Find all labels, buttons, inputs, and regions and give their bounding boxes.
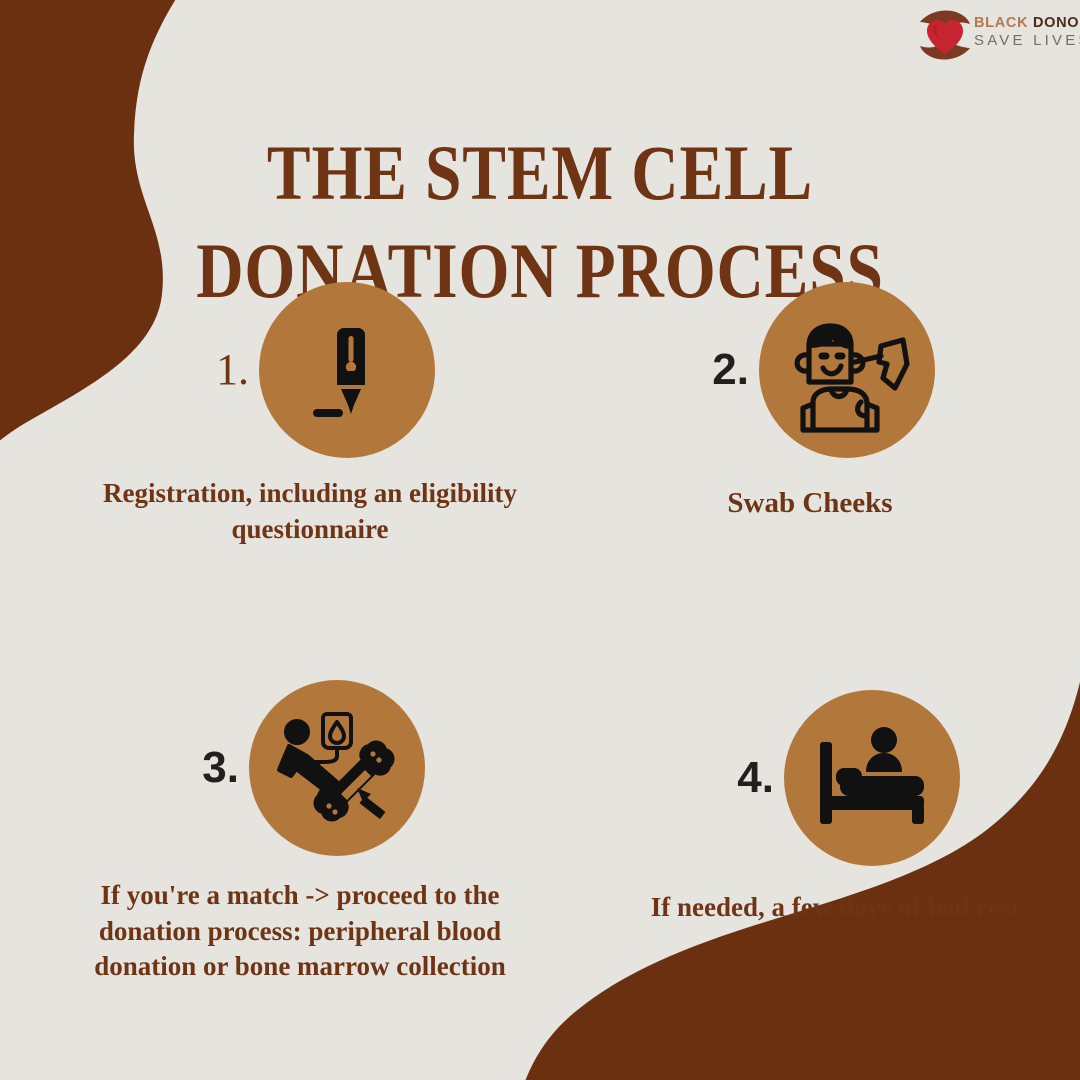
step-3-icon-circle <box>249 680 425 856</box>
brand-logo: BLACK DONORS SAVE LIVES <box>912 4 1080 66</box>
step-4-header: 4. <box>640 690 1030 866</box>
fountain-pen-signature-icon <box>287 310 407 430</box>
step-2-number: 2. <box>685 348 749 392</box>
person-in-bed-rest-icon <box>810 716 934 840</box>
page-title-line-1: THE STEM CELL <box>86 124 993 222</box>
process-step-1: 1. Registration, including an eligibilit… <box>100 282 520 547</box>
logo-wordmark: BLACK DONORS SAVE LIVES <box>974 16 1080 48</box>
step-4-icon-circle <box>784 690 960 866</box>
logo-word-black: BLACK <box>974 15 1028 31</box>
step-1-number: 1. <box>185 348 249 392</box>
blood-donation-chair-and-bone-marrow-icon <box>267 698 407 838</box>
step-4-caption: If needed, a few days of bed rest <box>640 890 1030 926</box>
process-step-3: 3. <box>70 680 530 985</box>
step-2-header: 2. <box>600 282 1020 458</box>
process-step-4: 4. <box>640 690 1030 926</box>
step-1-header: 1. <box>100 282 520 458</box>
cheek-swab-person-icon <box>781 304 913 436</box>
step-3-number: 3. <box>175 746 239 790</box>
hands-holding-heart-icon <box>914 6 976 64</box>
process-step-2: 2. <box>600 282 1020 522</box>
logo-line-1: BLACK DONORS <box>974 16 1080 31</box>
step-3-caption: If you're a match -> proceed to the dona… <box>70 878 530 985</box>
logo-line-2: SAVE LIVES <box>974 33 1080 48</box>
step-2-caption: Swab Cheeks <box>600 484 1020 522</box>
step-4-number: 4. <box>710 756 774 800</box>
step-3-header: 3. <box>70 680 530 856</box>
logo-word-donors: DONORS <box>1033 15 1080 31</box>
poster-canvas: BLACK DONORS SAVE LIVES THE STEM CELL DO… <box>0 0 1080 1080</box>
step-2-icon-circle <box>759 282 935 458</box>
step-1-caption: Registration, including an eligibility q… <box>100 476 520 547</box>
step-1-icon-circle <box>259 282 435 458</box>
